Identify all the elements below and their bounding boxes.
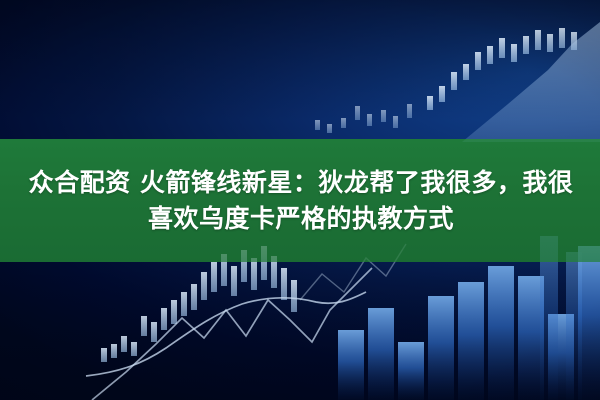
thumbnail-canvas: 众合配资 火箭锋线新星：狄龙帮了我很多，我很 喜欢乌度卡严格的执教方式 [0, 0, 600, 400]
headline-line-1: 众合配资 火箭锋线新星：狄龙帮了我很多，我很 [27, 168, 574, 198]
green-headline-band: 众合配资 火箭锋线新星：狄龙帮了我很多，我很 喜欢乌度卡严格的执教方式 [0, 139, 600, 262]
headline-block: 众合配资 火箭锋线新星：狄龙帮了我很多，我很 喜欢乌度卡严格的执教方式 [0, 139, 600, 262]
headline-line-2: 喜欢乌度卡严格的执教方式 [146, 204, 454, 234]
